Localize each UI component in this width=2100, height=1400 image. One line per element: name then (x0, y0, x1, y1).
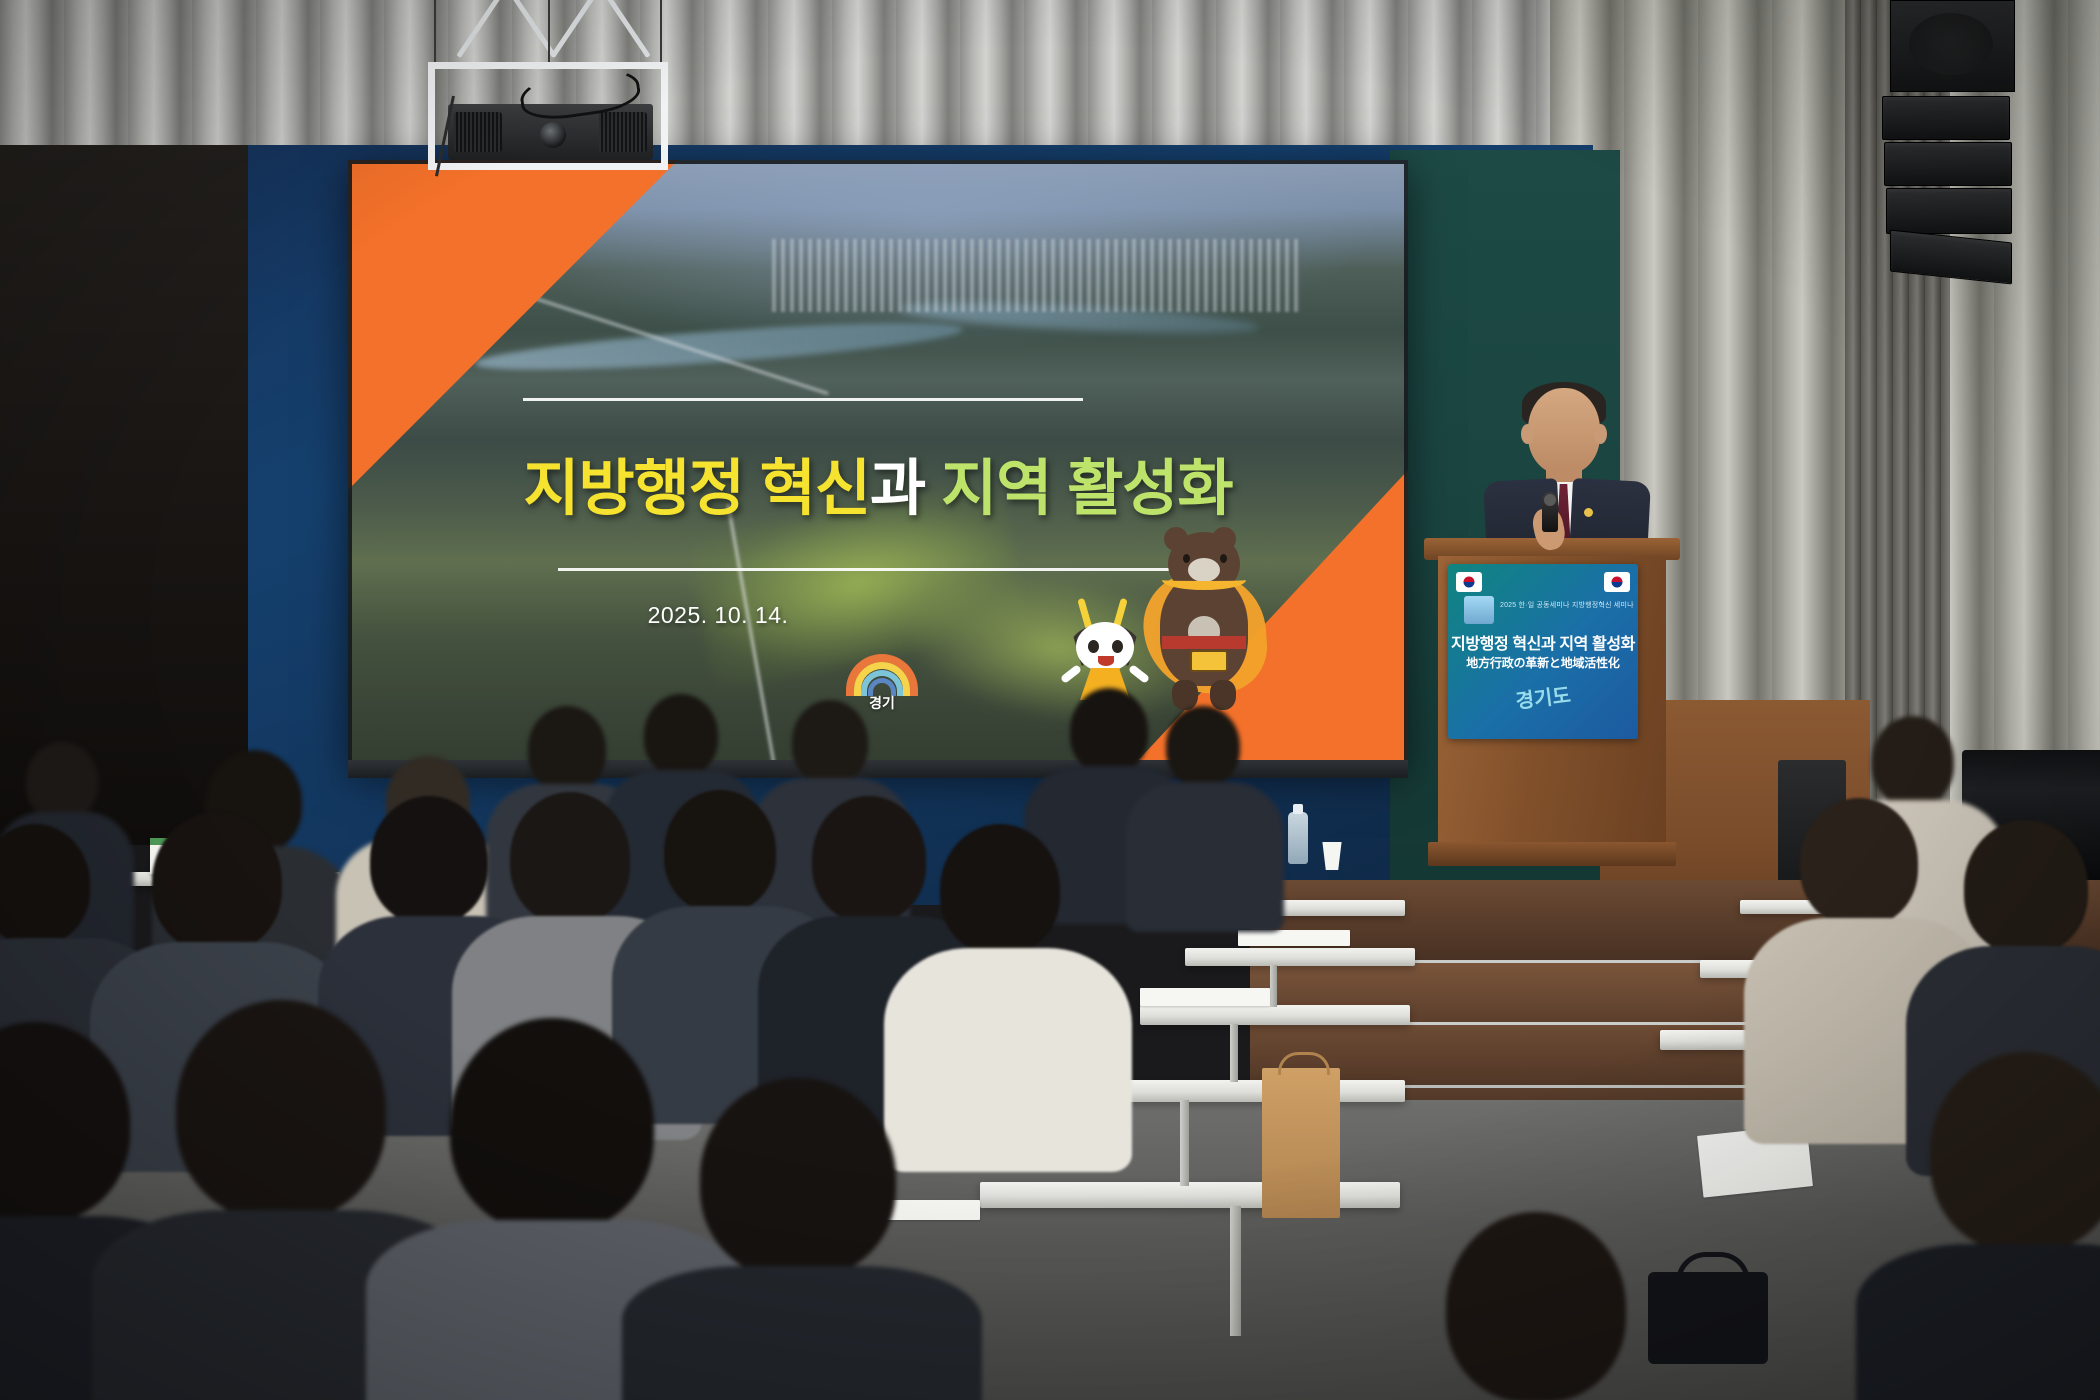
arch-logo-icon (846, 652, 918, 696)
title-rule-top (523, 398, 1083, 401)
cityscape-band (772, 239, 1302, 312)
desk-leg-c5 (1230, 1206, 1241, 1336)
left-dark-wall (0, 145, 255, 845)
lapel-pin-icon (1584, 508, 1593, 517)
auditorium-scene: 지방행정 혁신과 지역 활성화 2025. 10. 14. 경기 (0, 0, 2100, 1400)
rig-wire-2 (548, 0, 550, 62)
slide-title-segment-2: 과 (870, 454, 925, 522)
projector-lens-icon (540, 122, 566, 148)
title-rule-bottom (558, 568, 1208, 571)
screen-bottom-bar (348, 760, 1408, 778)
handheld-microphone-icon (1542, 492, 1558, 532)
water-bottle-1 (1288, 812, 1308, 864)
rig-wire-3 (660, 0, 662, 64)
desk-leg-c3 (1230, 1024, 1238, 1082)
podium-banner: 2025 한·일 공동세미나 지방행정혁신 세미나 지방행정 혁신과 지역 활성… (1448, 564, 1638, 739)
podium-banner-supra: 2025 한·일 공동세미나 지방행정혁신 세미나 (1500, 600, 1630, 610)
podium-banner-title-kr: 지방행정 혁신과 지역 활성화 (1448, 630, 1638, 654)
korea-flag-icon (1456, 572, 1482, 592)
river-shape (475, 314, 964, 378)
line-array-speaker (1882, 8, 2012, 278)
podium-banner-title-jp: 地方行政の革新と地域活性化 (1448, 654, 1638, 671)
rig-wire-1 (434, 0, 436, 66)
desk-leg-c2 (1270, 965, 1277, 1007)
slide-title: 지방행정 혁신과 지역 활성화 (348, 438, 1408, 527)
slide-title-segment-3: 지역 활성화 (941, 454, 1233, 522)
paper-bag (1262, 1068, 1340, 1218)
handout-2 (1140, 988, 1270, 1006)
desk-center-2 (1185, 948, 1415, 966)
desk-center-3 (1140, 1005, 1410, 1025)
japan-flag-icon (1604, 572, 1630, 592)
podium: 2025 한·일 공동세미나 지방행정혁신 세미나 지방행정 혁신과 지역 활성… (1438, 548, 1666, 898)
slide-title-segment-1: 지방행정 혁신 (523, 454, 870, 522)
projection-screen: 지방행정 혁신과 지역 활성화 2025. 10. 14. 경기 (348, 160, 1408, 770)
handbag (1648, 1272, 1768, 1364)
desk-leg-c4 (1180, 1100, 1189, 1186)
seminar-badge-icon (1464, 596, 1494, 624)
podium-banner-logo: 경기도 (1448, 671, 1638, 723)
handout-1 (1238, 930, 1350, 946)
bear-mascot-icon (1138, 532, 1270, 710)
